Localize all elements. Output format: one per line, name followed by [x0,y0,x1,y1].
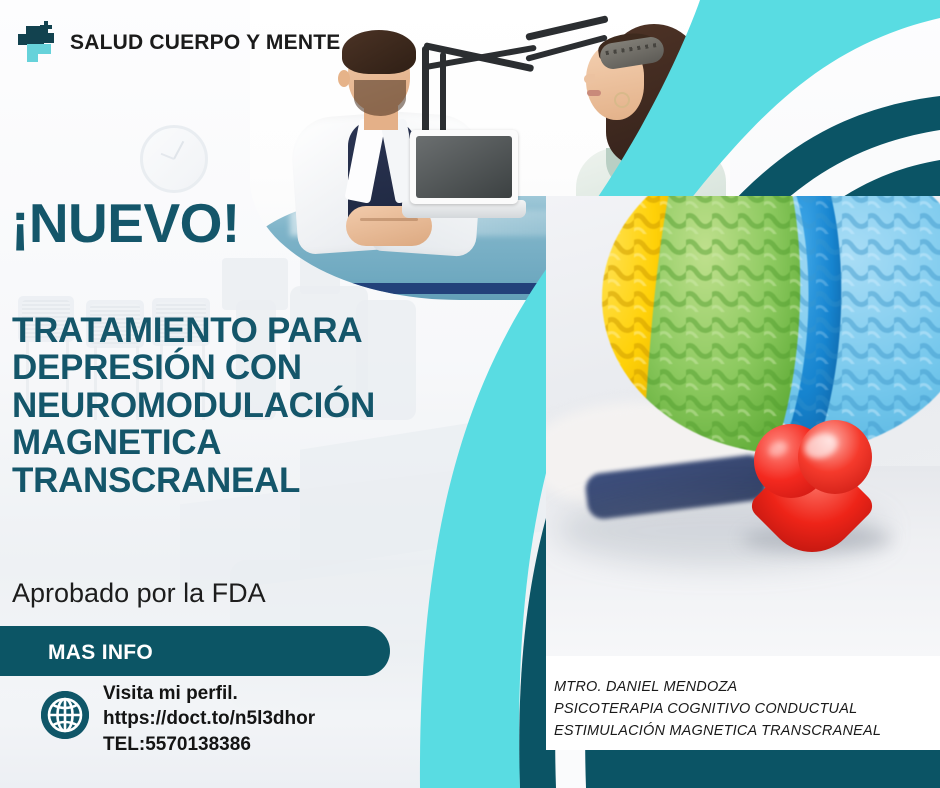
new-badge: ¡NUEVO! [11,196,240,251]
contact-details[interactable]: Visita mi perfil. https://doct.to/n5l3dh… [103,681,315,757]
credentials-text: MTRO. DANIEL MENDOZA PSICOTERAPIA COGNIT… [554,676,881,742]
credential-name: MTRO. DANIEL MENDOZA [554,676,881,698]
medical-cross-icon [14,20,60,66]
headline-line-3: NEUROMODULACIÓN [12,387,442,424]
headline-line-5: TRANSCRANEAL [12,462,442,499]
credential-specialty: PSICOTERAPIA COGNITIVO CONDUCTUAL [554,698,881,720]
phone-number[interactable]: TEL:5570138386 [103,732,315,757]
profile-prompt: Visita mi perfil. [103,681,315,706]
brand-name: SALUD CUERPO Y MENTE [70,31,340,55]
brand-logo[interactable]: SALUD CUERPO Y MENTE [14,20,340,66]
page-title: TRATAMIENTO PARA DEPRESIÓN CON NEUROMODU… [12,312,442,499]
laptop [402,130,526,226]
red-heart-model [752,420,876,536]
wall-clock-icon [140,125,208,193]
headline-line-4: MAGNETICA [12,424,442,461]
tms-coil-head [598,35,665,71]
more-info-label: MAS INFO [48,641,153,665]
credential-technique: ESTIMULACIÓN MAGNETICA TRANSCRANEAL [554,720,881,742]
brain-model-with-heart-photo [546,196,940,656]
profile-url[interactable]: https://doct.to/n5l3dhor [103,706,315,731]
poster-canvas: SALUD CUERPO Y MENTE ¡NUEVO! TRATAMIENTO… [0,0,940,788]
headline-line-2: DEPRESIÓN CON [12,349,442,386]
fda-approval-text: Aprobado por la FDA [12,578,266,609]
headline-line-1: TRATAMIENTO PARA [12,312,442,349]
globe-icon [41,691,89,739]
